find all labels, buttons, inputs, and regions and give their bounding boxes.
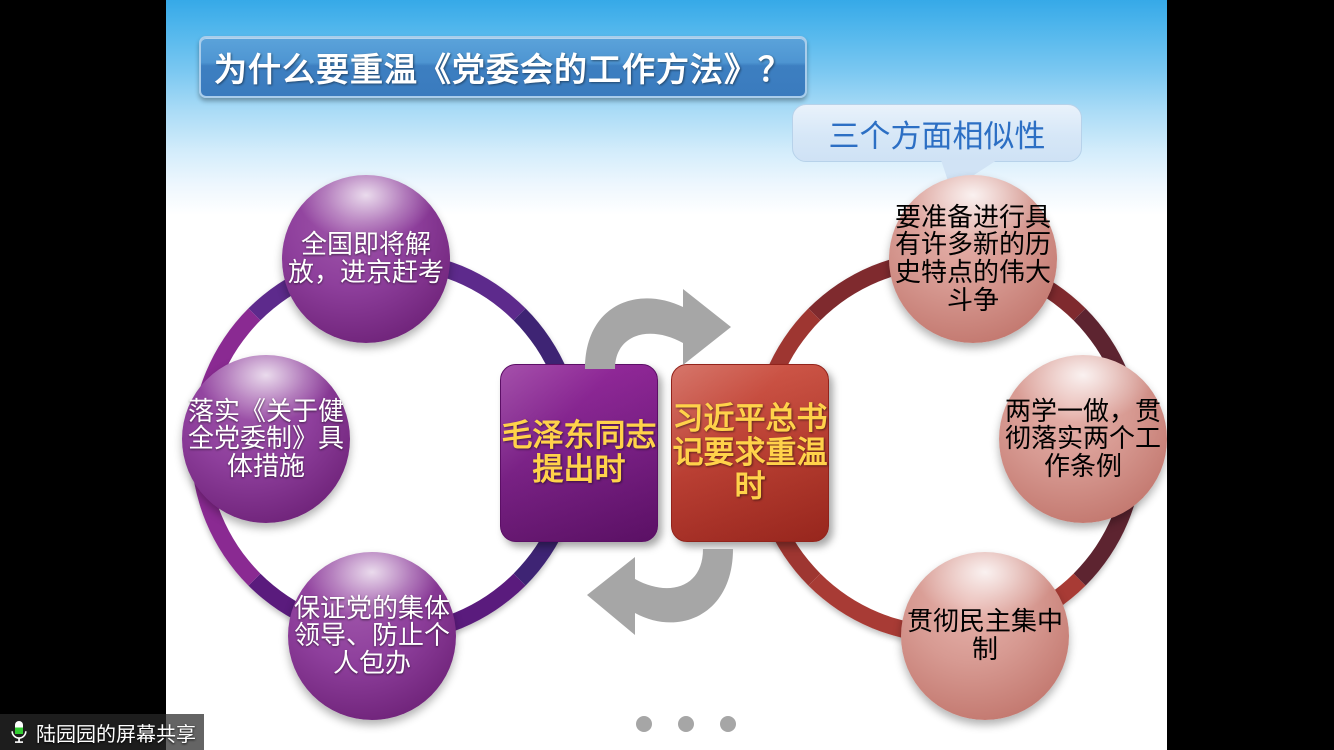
microphone-icon[interactable] [10, 720, 28, 744]
node-left-top: 全国即将解放，进京赶考 [282, 175, 450, 343]
center-box-xi: 习近平总书记要求重温时 [671, 364, 829, 542]
curved-arrow-left-icon [579, 545, 739, 641]
curved-arrow-right-icon [579, 281, 739, 373]
node-left-bottom-label: 保证党的集体领导、防止个人包办 [288, 595, 456, 678]
node-left-top-label: 全国即将解放，进京赶考 [282, 231, 450, 286]
pagination-dot[interactable] [678, 716, 694, 732]
node-right-top-label: 要准备进行具有许多新的历史特点的伟大斗争 [889, 204, 1057, 314]
node-left-middle: 落实《关于健全党委制》具体措施 [182, 355, 350, 523]
center-box-xi-label: 习近平总书记要求重温时 [672, 402, 828, 504]
page-title: 为什么要重温《党委会的工作方法》？ [214, 43, 792, 91]
center-box-mao-label: 毛泽东同志提出时 [501, 419, 657, 487]
pagination-dot[interactable] [720, 716, 736, 732]
screen-share-status-bar: 陆园园的屏幕共享 [0, 714, 204, 750]
callout-bubble: 三个方面相似性 [792, 104, 1082, 162]
node-right-bottom-label: 贯彻民主集中制 [901, 608, 1069, 663]
node-left-middle-label: 落实《关于健全党委制》具体措施 [182, 398, 350, 481]
slide-title-banner: 为什么要重温《党委会的工作方法》？ [199, 36, 807, 98]
node-right-top: 要准备进行具有许多新的历史特点的伟大斗争 [889, 175, 1057, 343]
pagination-dots[interactable] [636, 714, 736, 734]
pagination-dot[interactable] [636, 716, 652, 732]
node-right-middle-label: 两学一做，贯彻落实两个工作条例 [999, 398, 1167, 481]
screen-share-viewport: 为什么要重温《党委会的工作方法》？ 三个方面相似性 全国即将解放，进京赶考 落实… [0, 0, 1334, 750]
presentation-slide: 为什么要重温《党委会的工作方法》？ 三个方面相似性 全国即将解放，进京赶考 落实… [166, 0, 1167, 750]
callout-label: 三个方面相似性 [829, 111, 1046, 156]
node-left-bottom: 保证党的集体领导、防止个人包办 [288, 552, 456, 720]
node-right-middle: 两学一做，贯彻落实两个工作条例 [999, 355, 1167, 523]
center-box-mao: 毛泽东同志提出时 [500, 364, 658, 542]
node-right-bottom: 贯彻民主集中制 [901, 552, 1069, 720]
share-owner-label: 陆园园的屏幕共享 [36, 718, 196, 747]
